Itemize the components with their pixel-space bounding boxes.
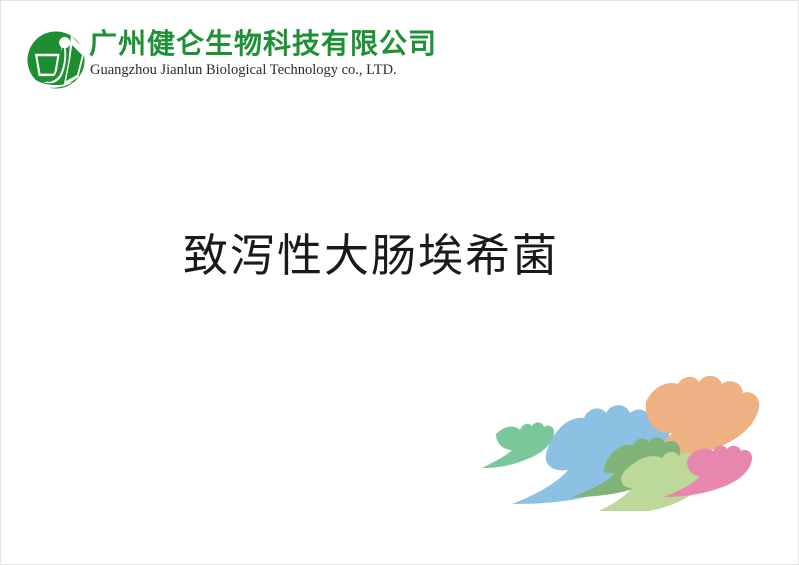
jl-circle-logo-icon — [25, 29, 87, 91]
page-title: 致泻性大肠埃希菌 — [1, 231, 741, 283]
leaf-green-left — [482, 422, 554, 468]
company-name-block: 广州健仑生物科技有限公司 Guangzhou Jianlun Biologica… — [89, 29, 437, 80]
company-name-en: Guangzhou Jianlun Biological Technology … — [90, 62, 437, 79]
company-brand-lockup: 广州健仑生物科技有限公司 Guangzhou Jianlun Biologica… — [25, 29, 437, 101]
company-name-cn: 广州健仑生物科技有限公司 — [89, 29, 437, 59]
slide-canvas: 广州健仑生物科技有限公司 Guangzhou Jianlun Biologica… — [0, 0, 799, 565]
ginkgo-leaf-cluster — [456, 376, 776, 511]
